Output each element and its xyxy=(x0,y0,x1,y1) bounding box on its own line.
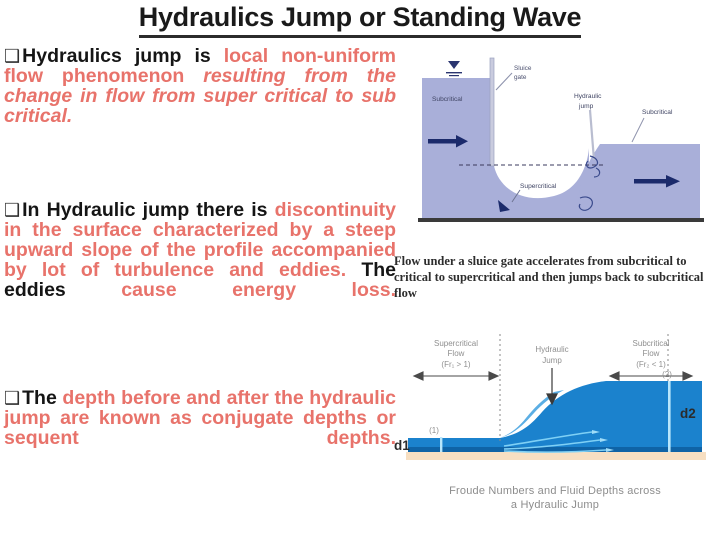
label-supercritical: Supercritical xyxy=(520,183,557,190)
bullet-2-red-tail: cause energy loss. xyxy=(121,279,396,301)
sluice-gate-caption: Flow under a sluice gate accelerates fro… xyxy=(394,253,716,301)
bullet-item-2: ❑In Hydraulic jump there is discontinuit… xyxy=(4,200,396,320)
label-jump-line2: Jump xyxy=(542,356,562,365)
sluice-gate-leader xyxy=(496,73,512,90)
free-surface-symbol-left xyxy=(446,61,462,76)
label-hydraulic-jump-line1: Hydraulic xyxy=(574,93,602,100)
supercritical-extent-arrow xyxy=(414,372,498,380)
bullet-1-paragraph: ❑Hydraulics jump is local non-uniform fl… xyxy=(4,46,396,146)
subcritical-right-leader xyxy=(632,118,644,142)
sluice-gate-plate xyxy=(490,58,494,166)
froude-caption-line-2: a Hydraulic Jump xyxy=(394,498,716,512)
bullet-3-black-lead: The xyxy=(22,387,57,409)
hydraulic-jump-leader xyxy=(590,110,594,160)
bullet-2-black-lead: In Hydraulic jump there is xyxy=(22,199,267,221)
label-supercritical-line1: Supercritical xyxy=(434,339,478,348)
label-depth-upstream: d1 xyxy=(394,438,410,453)
bullet-square-icon-2: ❑ xyxy=(4,200,20,220)
bed-shear-layer xyxy=(408,447,702,452)
froude-depth-diagram: Supercritical Flow (Fr₁ > 1) Hydraulic J… xyxy=(392,330,718,480)
froude-caption-line-1: Froude Numbers and Fluid Depths across xyxy=(394,484,716,498)
label-subcritical-line1: Subcritical xyxy=(633,339,670,348)
label-station-1: (1) xyxy=(429,426,439,435)
label-sluice-gate-line1: Sluice xyxy=(514,65,532,72)
bullet-square-icon-3: ❑ xyxy=(4,388,20,408)
subcritical-extent-arrow xyxy=(610,372,692,380)
label-subcritical-right: Subcritical xyxy=(642,109,673,116)
page-title-text: Hydraulics Jump or Standing Wave xyxy=(139,2,582,38)
label-supercritical-line2: Flow xyxy=(448,349,465,358)
label-jump-line1: Hydraulic xyxy=(535,345,568,354)
page-title: Hydraulics Jump or Standing Wave xyxy=(0,2,720,38)
bullet-3-paragraph: ❑The depth before and after the hydrauli… xyxy=(4,388,396,468)
bullet-item-1: ❑Hydraulics jump is local non-uniform fl… xyxy=(4,46,396,146)
label-station-2: (2) xyxy=(662,370,672,379)
channel-bed xyxy=(418,218,704,222)
sluice-gate-diagram: Sluice gate Subcritical Hydraulic jump S… xyxy=(404,48,716,238)
label-hydraulic-jump-line2: jump xyxy=(578,103,594,110)
bullet-1-black-lead: Hydraulics jump is xyxy=(22,45,211,67)
label-subcritical-line2: Flow xyxy=(643,349,660,358)
station-1-marker xyxy=(440,437,442,452)
froude-diagram-caption: Froude Numbers and Fluid Depths across a… xyxy=(394,484,716,512)
sand-bed xyxy=(406,452,706,460)
label-subcritical-line3: (Fr₂ < 1) xyxy=(636,360,666,369)
label-depth-downstream: d2 xyxy=(680,406,696,421)
label-sluice-gate-line2: gate xyxy=(514,74,527,81)
bullet-2-paragraph: ❑In Hydraulic jump there is discontinuit… xyxy=(4,200,396,320)
bullet-item-3: ❑The depth before and after the hydrauli… xyxy=(4,388,396,468)
label-supercritical-line3: (Fr₁ > 1) xyxy=(441,360,470,369)
label-subcritical-left: Subcritical xyxy=(432,96,463,103)
station-2-marker xyxy=(668,381,671,452)
bullet-square-icon-1: ❑ xyxy=(4,46,20,66)
